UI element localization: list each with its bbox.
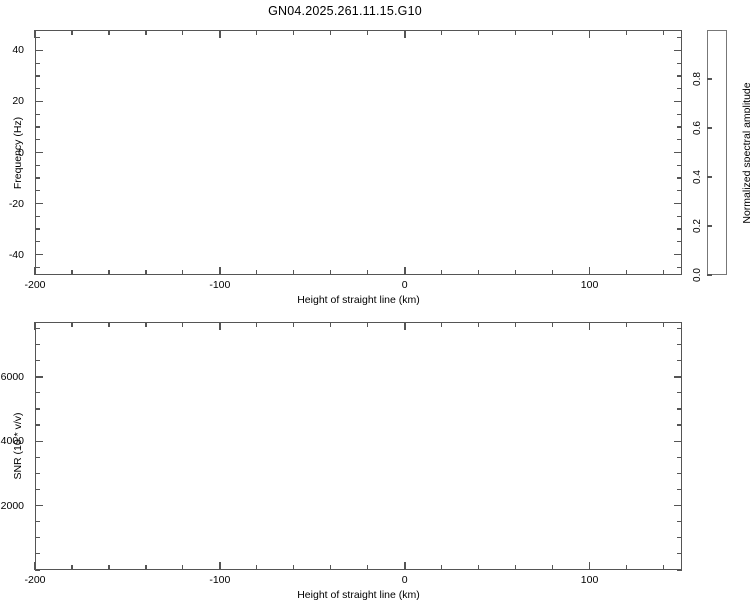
y-tick [35,126,40,127]
y-tick [35,569,40,570]
y-tick-right [677,241,682,242]
y-tick [35,88,40,89]
x-tick-top [515,30,516,35]
y-tick-right [677,139,682,140]
x-tick-top [330,322,331,327]
x-tick-top [256,30,257,35]
y-tick [35,376,43,377]
y-tick-right [677,228,682,229]
x-tick [552,565,553,570]
x-tick [256,565,257,570]
x-tick [219,562,220,570]
colorbar-tick [707,225,712,226]
x-tick-top [441,30,442,35]
y-tick-label: 40 [0,44,24,56]
x-tick [626,565,627,570]
x-tick-top [441,322,442,327]
y-tick-right [674,50,682,51]
y-tick [35,254,43,255]
x-tick [330,565,331,570]
x-tick-label: 0 [402,279,408,291]
y-tick-right [674,441,682,442]
x-tick-top [404,30,405,38]
y-tick-right [677,521,682,522]
x-tick-top [330,30,331,35]
x-tick [145,270,146,275]
y-tick [35,114,40,115]
x-tick-top [404,322,405,330]
y-tick [35,267,40,268]
x-axis-title: Height of straight line (km) [297,589,420,601]
x-tick-label: 100 [581,279,599,291]
y-tick-right [677,408,682,409]
spectrogram-panel [35,30,682,275]
x-tick-top [663,30,664,35]
x-tick [71,565,72,570]
y-tick-right [674,505,682,506]
x-tick [34,267,35,275]
x-tick [552,270,553,275]
x-tick-top [71,30,72,35]
y-tick [35,360,40,361]
x-tick [219,267,220,275]
y-tick-right [677,457,682,458]
x-tick-label: 0 [402,574,408,586]
x-tick-top [108,322,109,327]
y-tick [35,241,40,242]
x-tick-top [626,30,627,35]
colorbar-tick-label: 0.0 [692,268,703,282]
y-tick [35,203,43,204]
x-tick-label: -100 [209,574,230,586]
x-tick [182,565,183,570]
x-tick [478,270,479,275]
colorbar-tick [707,274,712,275]
y-tick [35,101,43,102]
x-tick-top [256,322,257,327]
y-tick-label: -20 [0,198,24,210]
x-tick [663,270,664,275]
y-tick-right [677,88,682,89]
snr-panel [35,322,682,570]
y-axis-title: SNR (10 * v/v) [12,412,24,479]
y-tick [35,489,40,490]
y-tick-right [677,216,682,217]
y-tick [35,328,40,329]
x-tick-top [182,30,183,35]
x-tick [404,267,405,275]
x-tick-top [626,322,627,327]
x-tick [182,270,183,275]
x-tick [330,270,331,275]
y-tick-right [677,63,682,64]
x-tick-top [663,322,664,327]
x-tick-top [71,322,72,327]
y-tick [35,457,40,458]
x-tick [478,565,479,570]
x-tick [108,270,109,275]
y-tick [35,441,43,442]
x-tick-top [515,322,516,327]
y-tick [35,177,40,178]
x-tick-top [182,322,183,327]
y-tick-right [677,360,682,361]
y-tick [35,37,40,38]
spectrogram-frame [35,30,682,275]
x-tick [441,270,442,275]
y-tick-right [677,553,682,554]
x-tick-top [293,30,294,35]
y-tick-right [677,537,682,538]
y-tick-label: 20 [0,95,24,107]
x-tick-top [367,322,368,327]
y-tick [35,152,43,153]
colorbar-tick-label: 0.2 [692,219,703,233]
y-tick-right [677,569,682,570]
y-tick [35,50,43,51]
y-tick [35,408,40,409]
x-tick-label: -200 [24,574,45,586]
snr-frame [35,322,682,570]
y-tick-right [674,254,682,255]
y-tick [35,190,40,191]
y-tick-right [674,376,682,377]
y-tick-right [677,489,682,490]
y-tick [35,139,40,140]
x-tick-top [145,322,146,327]
y-tick-right [674,101,682,102]
y-tick [35,63,40,64]
figure-root: GN04.2025.261.11.15.G10 -200-1000100-40-… [0,0,750,600]
y-tick [35,392,40,393]
colorbar-tick-label: 0.8 [692,72,703,86]
x-tick [71,270,72,275]
y-tick-right [677,37,682,38]
x-tick [589,562,590,570]
y-tick-right [677,165,682,166]
y-tick-right [677,190,682,191]
y-tick [35,344,40,345]
x-tick-top [552,322,553,327]
y-tick-right [674,152,682,153]
colorbar-gradient [708,31,726,274]
colorbar-tick-label: 0.4 [692,170,703,184]
x-tick-top [589,322,590,330]
y-tick [35,216,40,217]
x-tick-top [478,30,479,35]
x-tick [293,565,294,570]
x-tick [663,565,664,570]
y-tick-right [677,126,682,127]
x-tick [404,562,405,570]
y-tick-right [677,114,682,115]
y-tick-right [677,177,682,178]
x-axis-title: Height of straight line (km) [297,294,420,306]
page-title: GN04.2025.261.11.15.G10 [0,4,690,18]
colorbar-tick-label: 0.6 [692,121,703,135]
x-tick-top [367,30,368,35]
y-tick [35,473,40,474]
x-tick-top [219,322,220,330]
y-tick-right [677,392,682,393]
y-tick-right [677,424,682,425]
y-axis-title: Frequency (Hz) [12,116,24,188]
y-tick-right [677,267,682,268]
y-tick-label: 6000 [0,371,24,383]
y-tick [35,521,40,522]
y-tick [35,75,40,76]
x-tick [367,565,368,570]
x-tick [515,565,516,570]
x-tick [589,267,590,275]
x-tick-top [219,30,220,38]
x-tick-label: 100 [581,574,599,586]
colorbar-tick [707,176,712,177]
x-tick-top [552,30,553,35]
x-tick-top [108,30,109,35]
y-tick [35,424,40,425]
x-tick-label: -100 [209,279,230,291]
x-tick [108,565,109,570]
y-tick-right [677,473,682,474]
x-tick [515,270,516,275]
x-tick-top [478,322,479,327]
colorbar-tick [707,78,712,79]
y-tick-label: -40 [0,249,24,261]
x-tick-top [293,322,294,327]
y-tick [35,505,43,506]
x-tick [256,270,257,275]
colorbar-title: Normalized spectral amplitude [741,82,750,223]
x-tick [293,270,294,275]
y-tick-right [674,203,682,204]
y-tick-right [677,344,682,345]
x-tick [367,270,368,275]
y-tick [35,553,40,554]
x-tick [626,270,627,275]
colorbar [707,30,727,275]
x-tick [441,565,442,570]
x-tick-top [589,30,590,38]
y-tick [35,537,40,538]
y-tick [35,165,40,166]
x-tick [145,565,146,570]
y-tick-right [677,75,682,76]
y-tick-right [677,328,682,329]
colorbar-tick [707,127,712,128]
x-tick-top [145,30,146,35]
y-tick-label: 2000 [0,500,24,512]
y-tick [35,228,40,229]
x-tick-label: -200 [24,279,45,291]
